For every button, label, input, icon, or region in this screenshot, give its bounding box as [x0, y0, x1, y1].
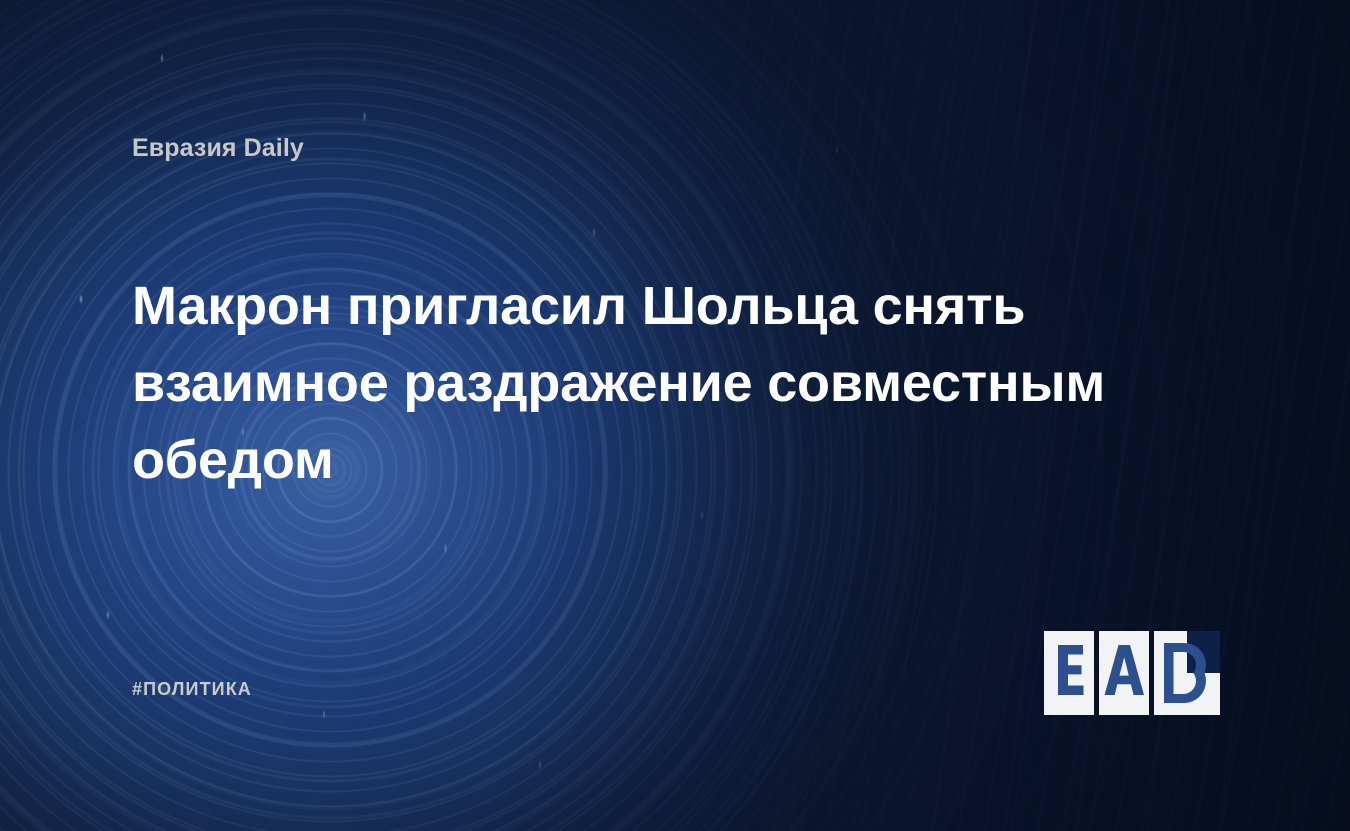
category-tag: #ПОЛИТИКА — [132, 680, 252, 698]
logo-tile-d — [1154, 631, 1220, 715]
logo-tile-e — [1044, 631, 1094, 715]
card-content: Евразия Daily Макрон пригласил Шольца сн… — [0, 0, 1350, 831]
page-title: Макрон пригласил Шольца снять взаимное р… — [132, 268, 1142, 499]
eadaily-logo — [1044, 631, 1220, 715]
logo-tile-a — [1099, 631, 1149, 715]
social-share-card: Евразия Daily Макрон пригласил Шольца сн… — [0, 0, 1350, 831]
site-name: Евразия Daily — [132, 136, 304, 161]
